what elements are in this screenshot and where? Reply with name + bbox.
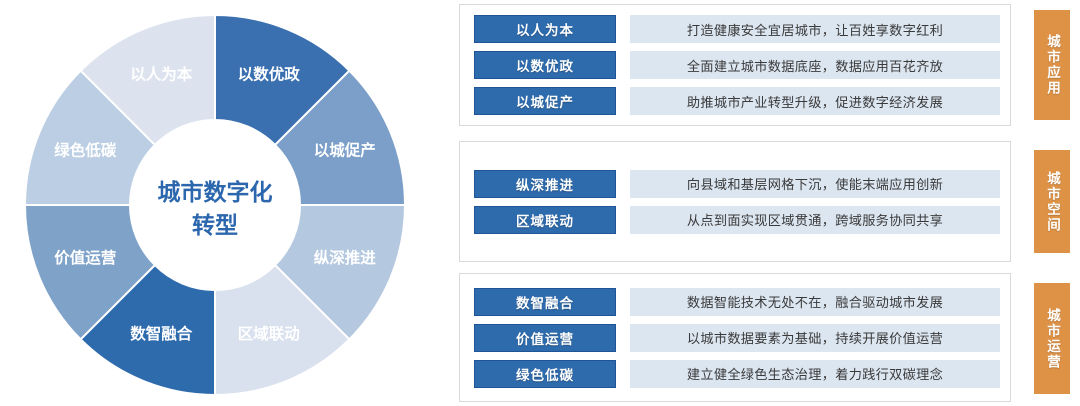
donut-center-hole xyxy=(130,120,300,290)
donut-segment-label: 价值运营 xyxy=(54,248,116,267)
row-description: 助推城市产业转型升级，促进数字经济发展 xyxy=(630,87,1000,115)
panel-rows: 以人为本打造健康安全宜居城市，让百姓享数字红利以数优政全面建立城市数据底座，数据… xyxy=(474,5,1000,125)
donut-segment-label: 区域联动 xyxy=(238,324,300,343)
panel-3: 数智融合数据智能技术无处不在，融合驱动城市发展价值运营以城市数据要素为基础，持续… xyxy=(459,273,1011,402)
panel-row: 以人为本打造健康安全宜居城市，让百姓享数字红利 xyxy=(474,15,1000,43)
donut-segment-label: 以数优政 xyxy=(238,64,301,83)
row-description: 以城市数据要素为基础，持续开展价值运营 xyxy=(630,324,1000,352)
panel-row: 绿色低碳建立健全绿色生态治理，着力践行双碳理念 xyxy=(474,360,1000,388)
panel-row: 纵深推进向县域和基层网格下沉，使能末端应用创新 xyxy=(474,170,1000,198)
panel-rows: 纵深推进向县域和基层网格下沉，使能末端应用创新区域联动从点到面实现区域贯通，跨域… xyxy=(474,142,1000,261)
donut-center-line1: 城市数字化 xyxy=(158,179,273,205)
row-label-chip[interactable]: 以数优政 xyxy=(474,51,616,79)
slide-canvas: 以数优政以城促产纵深推进区域联动数智融合价值运营绿色低碳以人为本 城市数字化 转… xyxy=(0,0,1080,406)
row-label-chip[interactable]: 以城促产 xyxy=(474,87,616,115)
row-description: 全面建立城市数据底座，数据应用百花齐放 xyxy=(630,51,1000,79)
panel-row: 以城促产助推城市产业转型升级，促进数字经济发展 xyxy=(474,87,1000,115)
row-description: 向县域和基层网格下沉，使能末端应用创新 xyxy=(630,170,1000,198)
row-description: 建立健全绿色生态治理，着力践行双碳理念 xyxy=(630,360,1000,388)
panel-row: 区域联动从点到面实现区域贯通，跨域服务协同共享 xyxy=(474,206,1000,234)
panel-row: 数智融合数据智能技术无处不在，融合驱动城市发展 xyxy=(474,288,1000,316)
donut-segment-label: 以城促产 xyxy=(314,140,376,159)
row-label-chip[interactable]: 纵深推进 xyxy=(474,170,616,198)
panel-side-tab[interactable]: 城市应用 xyxy=(1034,10,1070,120)
row-label-chip[interactable]: 价值运营 xyxy=(474,324,616,352)
panel-side-tab[interactable]: 城市运营 xyxy=(1034,283,1070,394)
row-label-chip[interactable]: 绿色低碳 xyxy=(474,360,616,388)
donut-chart: 以数优政以城促产纵深推进区域联动数智融合价值运营绿色低碳以人为本 城市数字化 转… xyxy=(0,0,450,406)
donut-segment-label: 绿色低碳 xyxy=(54,140,117,159)
donut-center-line2: 转型 xyxy=(192,212,238,238)
row-label-chip[interactable]: 数智融合 xyxy=(474,288,616,316)
panel-row: 价值运营以城市数据要素为基础，持续开展价值运营 xyxy=(474,324,1000,352)
panel-row: 以数优政全面建立城市数据底座，数据应用百花齐放 xyxy=(474,51,1000,79)
row-label-chip[interactable]: 以人为本 xyxy=(474,15,616,43)
row-description: 打造健康安全宜居城市，让百姓享数字红利 xyxy=(630,15,1000,43)
donut-segment-label: 以人为本 xyxy=(130,64,193,83)
panel-2: 纵深推进向县域和基层网格下沉，使能末端应用创新区域联动从点到面实现区域贯通，跨域… xyxy=(459,141,1011,262)
donut-segment-label: 纵深推进 xyxy=(314,248,377,267)
panel-1: 以人为本打造健康安全宜居城市，让百姓享数字红利以数优政全面建立城市数据底座，数据… xyxy=(459,4,1011,126)
panel-rows: 数智融合数据智能技术无处不在，融合驱动城市发展价值运营以城市数据要素为基础，持续… xyxy=(474,274,1000,401)
panel-side-tab[interactable]: 城市空间 xyxy=(1034,150,1070,253)
panel-column: 以人为本打造健康安全宜居城市，让百姓享数字红利以数优政全面建立城市数据底座，数据… xyxy=(459,0,1080,406)
row-label-chip[interactable]: 区域联动 xyxy=(474,206,616,234)
donut-segment-label: 数智融合 xyxy=(130,324,193,343)
donut-svg: 以数优政以城促产纵深推进区域联动数智融合价值运营绿色低碳以人为本 城市数字化 转… xyxy=(0,0,450,406)
row-description: 数据智能技术无处不在，融合驱动城市发展 xyxy=(630,288,1000,316)
row-description: 从点到面实现区域贯通，跨域服务协同共享 xyxy=(630,206,1000,234)
